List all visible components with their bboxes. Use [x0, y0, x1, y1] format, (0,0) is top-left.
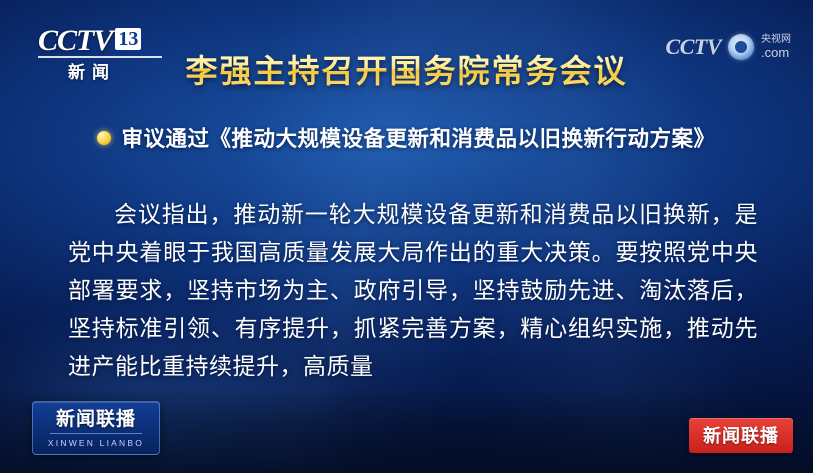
- top-bar: [0, 0, 813, 22]
- corner-bug-text: 新闻联播: [703, 426, 779, 447]
- watermark-domain: .com: [761, 45, 791, 60]
- eye-logo-icon: [728, 34, 754, 60]
- subtitle-row: 审议通过《推动大规模设备更新和消费品以旧换新行动方案》: [0, 122, 813, 153]
- body-paragraph: 会议指出，推动新一轮大规模设备更新和消费品以旧换新，是党中央着眼于我国高质量发展…: [68, 196, 758, 386]
- tv-broadcast-frame: CCTV 13 新闻 CCTV 央视网 .com 李强主持召开国务院常务会议 审…: [0, 0, 813, 473]
- bullet-dot-icon: [97, 131, 111, 145]
- program-bug-divider: [50, 433, 142, 434]
- program-bug: 新闻联播 XINWEN LIANBO: [32, 401, 160, 455]
- channel-sub-label: 新闻: [68, 58, 116, 83]
- headline-text: 李强主持召开国务院常务会议: [185, 46, 627, 92]
- watermark-cn-label: 央视网: [761, 34, 791, 45]
- cctv-watermark: CCTV 央视网 .com: [666, 34, 791, 60]
- program-bug-cn: 新闻联播: [56, 408, 136, 430]
- subtitle-text: 审议通过《推动大规模设备更新和消费品以旧换新行动方案》: [121, 122, 715, 153]
- watermark-brand: CCTV: [666, 34, 721, 60]
- channel-logo: CCTV 13: [38, 26, 141, 56]
- channel-logo-text: CCTV: [38, 26, 112, 56]
- corner-bug: 新闻联播: [689, 418, 793, 453]
- channel-number-badge: 13: [115, 28, 141, 50]
- program-bug-en: XINWEN LIANBO: [48, 438, 144, 448]
